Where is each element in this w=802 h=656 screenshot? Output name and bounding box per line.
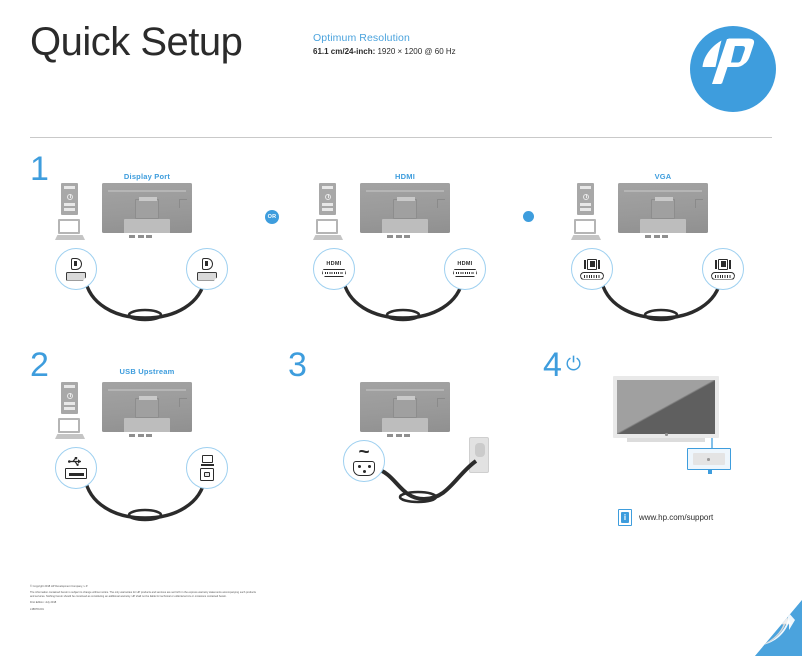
optimum-resolution-block: Optimum Resolution 61.1 cm/24-inch: 1920… [313, 32, 456, 56]
hdmi-port-icon [322, 269, 346, 277]
footer-copyright: © Copyright 2018 HP Development Company,… [30, 585, 260, 589]
usb-trident-icon [68, 457, 84, 466]
desktop-tower-icon [319, 183, 336, 215]
ac-power-port-icon [353, 461, 375, 476]
connector-bubble-usb-b [186, 447, 228, 489]
ac-symbol-icon: ~ [358, 447, 369, 459]
source-devices-vga [571, 183, 601, 245]
laptop-icon [571, 219, 601, 243]
desktop-tower-icon [577, 183, 594, 215]
footer-edition: First Edition: July 2018 [30, 601, 260, 605]
connector-bubble-dp-source [55, 248, 97, 290]
hdmi-wordmark-icon: HDMI [326, 261, 341, 267]
monitor-back-dp [102, 183, 192, 241]
support-url-text[interactable]: www.hp.com/support [639, 513, 713, 522]
connector-bubble-vga-source [571, 248, 613, 290]
connector-bubble-hdmi-source: HDMI [313, 248, 355, 290]
or-badge: OR [265, 210, 279, 224]
displayport-port-icon [197, 272, 217, 281]
hdmi-port-icon [453, 269, 477, 277]
vga-port-icon [711, 272, 735, 280]
hdmi-wordmark-icon: HDMI [457, 261, 472, 267]
connector-bubble-ac-power: ~ [343, 440, 385, 482]
label-hdmi: HDMI [395, 172, 415, 181]
header-divider [30, 137, 772, 138]
laptop-icon [55, 418, 85, 442]
laptop-icon [313, 219, 343, 243]
footer-part-number: L38678-001 [30, 608, 260, 612]
connector-bubble-usb-a [55, 447, 97, 489]
power-button-callout[interactable] [687, 448, 731, 470]
info-icon: i [618, 509, 632, 526]
desktop-tower-icon [61, 382, 78, 414]
label-vga: VGA [655, 172, 672, 181]
laptop-icon [55, 219, 85, 243]
monitor-symbol-icon [201, 455, 214, 466]
source-devices-usb [55, 382, 85, 444]
info-glyph: i [621, 512, 629, 523]
step-number-3: 3 [288, 348, 307, 382]
support-link[interactable]: i www.hp.com/support [618, 509, 713, 526]
source-devices-dp [55, 183, 85, 245]
step-number-1: 1 [30, 152, 49, 186]
connector-bubble-hdmi-monitor: HDMI [444, 248, 486, 290]
vga-display-symbol-icon [584, 259, 600, 270]
hp-logo [690, 26, 776, 112]
vga-port-icon [580, 272, 604, 280]
monitor-back-hdmi [360, 183, 450, 241]
quick-setup-poster: Quick Setup Optimum Resolution 61.1 cm/2… [0, 0, 802, 656]
footer-disclaimer: The information contained herein is subj… [30, 591, 260, 599]
desktop-tower-icon [61, 183, 78, 215]
displayport-symbol-icon [71, 258, 82, 270]
resolution-size: 61.1 cm/24-inch: [313, 47, 375, 56]
connector-bubble-dp-monitor [186, 248, 228, 290]
monitor-back-power [360, 382, 450, 440]
source-devices-hdmi [313, 183, 343, 245]
step-number-4: 4 [543, 348, 562, 382]
usb-b-port-icon [200, 468, 214, 481]
page-title: Quick Setup [30, 22, 242, 62]
monitor-back-vga [618, 183, 708, 241]
resolution-value: 1920 × 1200 @ 60 Hz [377, 47, 455, 56]
label-display-port: Display Port [124, 172, 170, 181]
displayport-port-icon [66, 272, 86, 281]
monitor-front-view [613, 376, 719, 444]
connector-bubble-vga-monitor [702, 248, 744, 290]
usb-a-port-icon [65, 468, 87, 479]
or-dot-badge [523, 211, 534, 222]
page-turn-corner [755, 600, 802, 656]
label-usb-upstream: USB Upstream [120, 367, 175, 376]
optimum-resolution-value: 61.1 cm/24-inch: 1920 × 1200 @ 60 Hz [313, 47, 456, 56]
vga-display-symbol-icon [715, 259, 731, 270]
step-number-2: 2 [30, 348, 49, 382]
optimum-resolution-label: Optimum Resolution [313, 32, 456, 44]
monitor-back-usb [102, 382, 192, 440]
displayport-symbol-icon [202, 258, 213, 270]
footer-legal: © Copyright 2018 HP Development Company,… [30, 585, 260, 614]
power-symbol-icon: ⏻ [566, 355, 581, 374]
